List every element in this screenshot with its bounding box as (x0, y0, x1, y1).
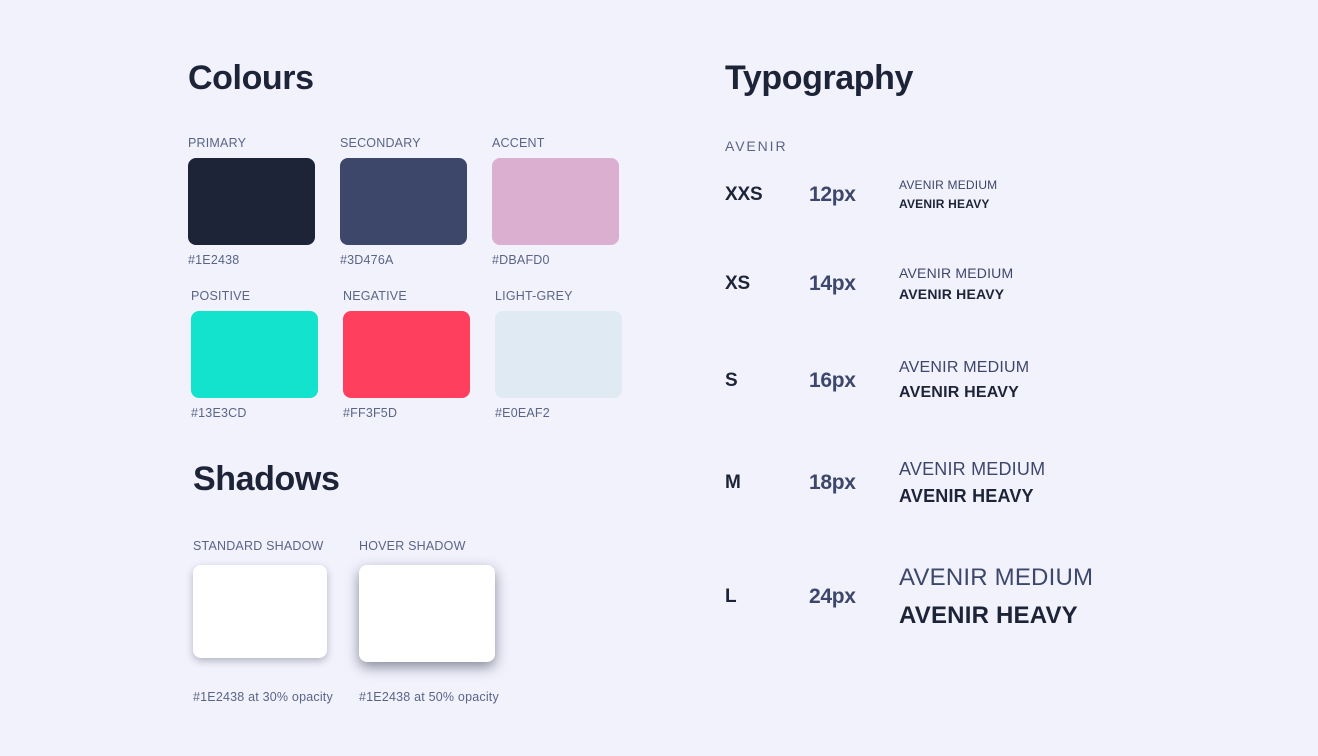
typography-sample-medium: AVENIR MEDIUM (899, 456, 1205, 484)
colour-swatch-label: LIGHT-GREY (495, 289, 647, 303)
shadows-heading: Shadows (193, 461, 658, 498)
typography-sample-heavy: AVENIR HEAVY (899, 597, 1205, 634)
colour-swatch-hex: #E0EAF2 (495, 406, 647, 420)
colour-swatch-grid: PRIMARY#1E2438SECONDARY#3D476AACCENT#DBA… (188, 136, 658, 420)
colour-swatch-box (188, 158, 315, 245)
typography-sample-medium: AVENIR MEDIUM (899, 263, 1205, 285)
typography-samples: AVENIR MEDIUMAVENIR HEAVY (899, 559, 1205, 633)
typography-sample-medium: AVENIR MEDIUM (899, 356, 1205, 381)
colour-swatch-label: POSITIVE (191, 289, 343, 303)
typography-samples: AVENIR MEDIUMAVENIR HEAVY (899, 263, 1205, 306)
colour-swatch-label: SECONDARY (340, 136, 492, 150)
typography-samples: AVENIR MEDIUMAVENIR HEAVY (899, 356, 1205, 406)
typography-px-value: 12px (809, 183, 899, 207)
typography-scale-table: XXS12pxAVENIR MEDIUMAVENIR HEAVYXS14pxAV… (725, 176, 1205, 633)
shadow-examples-row: STANDARD SHADOW#1E2438 at 30% opacityHOV… (193, 539, 658, 704)
typography-px-value: 16px (809, 369, 899, 393)
font-family-name: AVENIR (725, 138, 1205, 154)
typography-px-value: 14px (809, 272, 899, 296)
typography-sample-heavy: AVENIR HEAVY (899, 483, 1205, 511)
typography-px-value: 24px (809, 585, 899, 609)
typography-row: XS14pxAVENIR MEDIUMAVENIR HEAVY (725, 263, 1205, 306)
colour-swatch-cell: SECONDARY#3D476A (340, 136, 492, 267)
typography-heading: Typography (725, 60, 1205, 97)
shadow-label: HOVER SHADOW (359, 539, 525, 553)
shadow-caption: #1E2438 at 30% opacity (193, 690, 359, 704)
typography-size-label: XS (725, 273, 809, 295)
typography-sample-heavy: AVENIR HEAVY (899, 195, 1205, 214)
colour-swatch-cell: PRIMARY#1E2438 (188, 136, 340, 267)
colour-swatch-box (340, 158, 467, 245)
typography-sample-heavy: AVENIR HEAVY (899, 381, 1205, 406)
typography-size-label: XXS (725, 184, 809, 206)
typography-sample-medium: AVENIR MEDIUM (899, 559, 1205, 596)
colour-swatch-cell: NEGATIVE#FF3F5D (343, 289, 495, 420)
typography-column: Typography AVENIR XXS12pxAVENIR MEDIUMAV… (725, 60, 1205, 634)
typography-samples: AVENIR MEDIUMAVENIR HEAVY (899, 176, 1205, 213)
typography-size-label: S (725, 370, 809, 392)
shadow-example-cell: HOVER SHADOW#1E2438 at 50% opacity (359, 539, 525, 704)
shadow-preview-card (193, 565, 327, 658)
colour-swatch-label: PRIMARY (188, 136, 340, 150)
shadow-preview-card (359, 565, 495, 662)
typography-row: L24pxAVENIR MEDIUMAVENIR HEAVY (725, 559, 1205, 633)
typography-size-label: L (725, 586, 809, 608)
typography-samples: AVENIR MEDIUMAVENIR HEAVY (899, 456, 1205, 512)
shadow-caption: #1E2438 at 50% opacity (359, 690, 525, 704)
colour-swatch-hex: #13E3CD (191, 406, 343, 420)
colour-swatch-cell: LIGHT-GREY#E0EAF2 (495, 289, 647, 420)
colour-swatch-box (492, 158, 619, 245)
typography-sample-heavy: AVENIR HEAVY (899, 284, 1205, 306)
typography-sample-medium: AVENIR MEDIUM (899, 176, 1205, 195)
shadow-label: STANDARD SHADOW (193, 539, 359, 553)
colour-swatch-label: ACCENT (492, 136, 644, 150)
colour-swatch-box (343, 311, 470, 398)
typography-row: M18pxAVENIR MEDIUMAVENIR HEAVY (725, 456, 1205, 512)
colour-swatch-hex: #FF3F5D (343, 406, 495, 420)
colour-swatch-hex: #DBAFD0 (492, 253, 644, 267)
colour-swatch-box (495, 311, 622, 398)
typography-px-value: 18px (809, 471, 899, 495)
typography-row: S16pxAVENIR MEDIUMAVENIR HEAVY (725, 356, 1205, 406)
typography-row: XXS12pxAVENIR MEDIUMAVENIR HEAVY (725, 176, 1205, 213)
colour-swatch-label: NEGATIVE (343, 289, 495, 303)
colours-and-shadows-column: Colours PRIMARY#1E2438SECONDARY#3D476AAC… (188, 60, 658, 704)
colour-swatch-hex: #1E2438 (188, 253, 340, 267)
shadow-example-cell: STANDARD SHADOW#1E2438 at 30% opacity (193, 539, 359, 704)
colours-heading: Colours (188, 60, 658, 97)
shadows-heading-wrap: Shadows (193, 461, 658, 498)
colour-swatch-box (191, 311, 318, 398)
colour-swatch-cell: ACCENT#DBAFD0 (492, 136, 644, 267)
typography-size-label: M (725, 472, 809, 494)
colour-swatch-hex: #3D476A (340, 253, 492, 267)
colour-swatch-cell: POSITIVE#13E3CD (191, 289, 343, 420)
style-guide-page: Colours PRIMARY#1E2438SECONDARY#3D476AAC… (0, 0, 1318, 756)
